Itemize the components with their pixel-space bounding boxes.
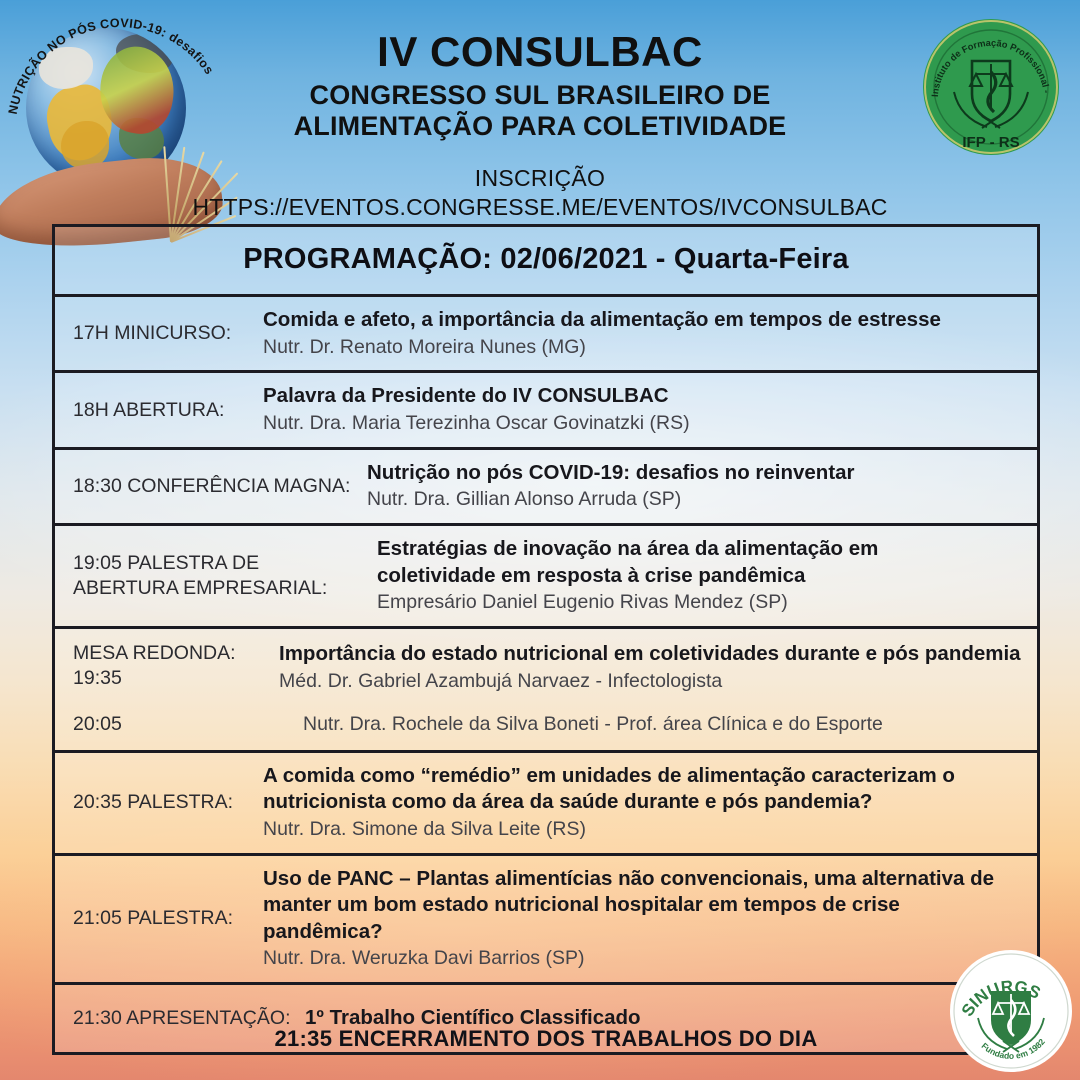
table-subrow: 20:05 Nutr. Dra. Rochele da Silva Boneti… — [55, 713, 1031, 736]
row-content: A comida como “remédio” em unidades de a… — [251, 763, 1031, 843]
table-row: 18:30 CONFERÊNCIA MAGNA: Nutrição no pós… — [55, 450, 1037, 526]
table-row: 20:35 PALESTRA: A comida como “remédio” … — [55, 753, 1037, 856]
subrow-speaker: Nutr. Dra. Rochele da Silva Boneti - Pro… — [267, 713, 1031, 736]
sinurgs-seal: SINURGS Fundado em 1982 — [948, 948, 1074, 1074]
row-content: Nutrição no pós COVID-19: desafios no re… — [355, 460, 1031, 513]
row-speaker: Nutr. Dr. Renato Moreira Nunes (MG) — [263, 335, 1031, 361]
row-speaker: Empresário Daniel Eugenio Rivas Mendez (… — [377, 590, 1031, 616]
event-title: IV CONSULBAC — [170, 30, 910, 74]
row-time-label: MESA REDONDA: 19:35 — [55, 641, 267, 691]
row-content: Importância do estado nutricional em col… — [267, 641, 1031, 694]
row-speaker: Méd. Dr. Gabriel Azambujá Narvaez - Infe… — [279, 669, 1031, 695]
row-time-label: 20:35 PALESTRA: — [55, 790, 251, 815]
row-time-label: 18:30 CONFERÊNCIA MAGNA: — [55, 474, 355, 499]
row-time-label: 21:05 PALESTRA: — [55, 906, 251, 931]
row-speaker: Nutr. Dra. Maria Terezinha Oscar Govinat… — [263, 411, 1031, 437]
poster-header: IV CONSULBAC CONGRESSO SUL BRASILEIRO DE… — [170, 30, 910, 221]
row-title: Comida e afeto, a importância da aliment… — [263, 307, 1031, 334]
event-program-poster: NUTRIÇÃO NO PÓS COVID-19: desafios no re… — [0, 0, 1080, 1080]
row-time-label: 17H MINICURSO: — [55, 321, 251, 346]
row-title: Uso de PANC – Plantas alimentícias não c… — [263, 866, 1023, 946]
ifp-bottom-label: IFP - RS — [962, 134, 1019, 151]
row-title: Palavra da Presidente do IV CONSULBAC — [263, 383, 1031, 410]
row-speaker: Nutr. Dra. Gillian Alonso Arruda (SP) — [367, 487, 1031, 513]
program-table: PROGRAMAÇÃO: 02/06/2021 - Quarta-Feira 1… — [52, 224, 1040, 1055]
program-heading: PROGRAMAÇÃO: 02/06/2021 - Quarta-Feira — [243, 243, 849, 276]
event-subtitle-line1: CONGRESSO SUL BRASILEIRO DE — [170, 80, 910, 111]
row-title: Estratégias de inovação na área da alime… — [377, 536, 937, 589]
table-row: 19:05 PALESTRA DE ABERTURA EMPRESARIAL: … — [55, 526, 1037, 629]
row-title: Importância do estado nutricional em col… — [279, 641, 1031, 668]
row-speaker: Nutr. Dra. Simone da Silva Leite (RS) — [263, 817, 1031, 843]
closing-note: 21:35 ENCERRAMENTO DOS TRABALHOS DO DIA — [52, 1026, 1040, 1052]
row-content: Estratégias de inovação na área da alime… — [365, 536, 1031, 616]
ifp-rs-seal: Instituto de Formação Profissional - RS … — [920, 16, 1062, 158]
table-row: 17H MINICURSO: Comida e afeto, a importâ… — [55, 297, 1037, 373]
event-subtitle-line2: ALIMENTAÇÃO PARA COLETIVIDADE — [170, 111, 910, 142]
row-title: A comida como “remédio” em unidades de a… — [263, 763, 963, 816]
row-speaker: Nutr. Dra. Weruzka Davi Barrios (SP) — [263, 946, 1031, 972]
table-row: 18H ABERTURA: Palavra da Presidente do I… — [55, 373, 1037, 449]
row-content: Uso de PANC – Plantas alimentícias não c… — [251, 866, 1031, 973]
table-row: 21:05 PALESTRA: Uso de PANC – Plantas al… — [55, 856, 1037, 986]
program-heading-row: PROGRAMAÇÃO: 02/06/2021 - Quarta-Feira — [55, 227, 1037, 297]
row-content: Comida e afeto, a importância da aliment… — [251, 307, 1031, 360]
row-time-label: 18H ABERTURA: — [55, 398, 251, 423]
registration-url[interactable]: HTTPS://EVENTOS.CONGRESSE.ME/EVENTOS/IVC… — [170, 194, 910, 221]
subrow-time-label: 20:05 — [55, 713, 267, 736]
table-row: MESA REDONDA: 19:35 Importância do estad… — [55, 629, 1037, 752]
registration-label: INSCRIÇÃO — [170, 165, 910, 192]
row-time-label: 19:05 PALESTRA DE ABERTURA EMPRESARIAL: — [55, 551, 365, 601]
row-content: Palavra da Presidente do IV CONSULBAC Nu… — [251, 383, 1031, 436]
row-title: Nutrição no pós COVID-19: desafios no re… — [367, 460, 1031, 487]
